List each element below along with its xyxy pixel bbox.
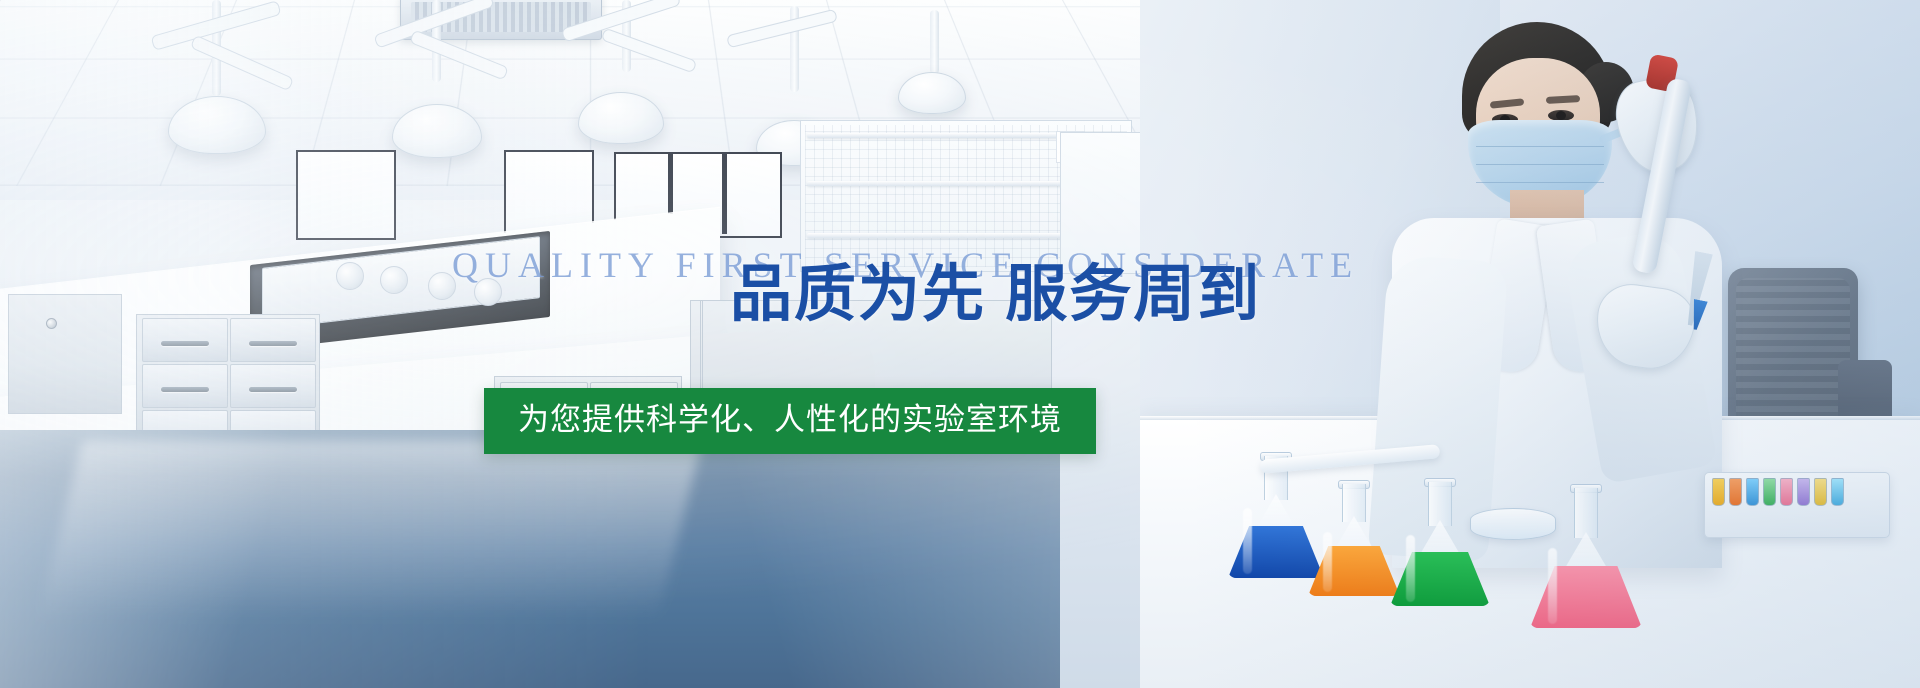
flask-highlight (1243, 508, 1252, 574)
drawer (590, 382, 678, 430)
bench-knob (380, 266, 408, 294)
bench-knob (474, 278, 502, 306)
flask-pink (1530, 488, 1642, 628)
banner-background-photo (0, 0, 1920, 688)
cabinet-left (8, 294, 122, 414)
flask-orange (1308, 484, 1400, 596)
sample-vial (1780, 478, 1793, 506)
mask-pleat (1476, 182, 1604, 183)
lamp-stem (930, 10, 939, 74)
mask-pleat (1476, 164, 1604, 165)
sample-vial (1831, 478, 1844, 506)
drawer (230, 364, 316, 408)
sample-tube-rack (1704, 472, 1890, 538)
drawer (500, 382, 588, 430)
sample-vial (1814, 478, 1827, 506)
sample-vial (1746, 478, 1759, 506)
bench-knob (428, 272, 456, 300)
sample-vial (1797, 478, 1810, 506)
petri-dish (1470, 508, 1556, 540)
flask-highlight (1323, 532, 1332, 592)
floor-reflection (38, 440, 703, 620)
cabinet-lock (46, 318, 57, 329)
flask-neck (1574, 488, 1598, 538)
flask-liquid (1390, 552, 1490, 606)
sample-vial (1712, 478, 1725, 506)
flask-highlight (1548, 548, 1557, 624)
back-cabinet-run (700, 300, 703, 434)
scientist-scene (1140, 0, 1920, 688)
flask-neck (1428, 482, 1452, 526)
flask-liquid (1530, 566, 1642, 628)
bench-knob (336, 262, 364, 290)
sample-vial (1763, 478, 1776, 506)
flask-green (1390, 482, 1490, 606)
drawer (142, 318, 228, 362)
mask-pleat (1476, 146, 1604, 147)
flask-liquid (1308, 546, 1400, 596)
hero-banner: QUALITY FIRST SERVICE CONSIDERATE 品质为先 服… (0, 0, 1920, 688)
window-mullion (722, 152, 727, 234)
drawer (142, 364, 228, 408)
back-cabinet-run (690, 300, 1052, 434)
sample-vial (1729, 478, 1742, 506)
drawer (230, 318, 316, 362)
lab-window (296, 150, 396, 240)
flask-highlight (1406, 535, 1415, 602)
